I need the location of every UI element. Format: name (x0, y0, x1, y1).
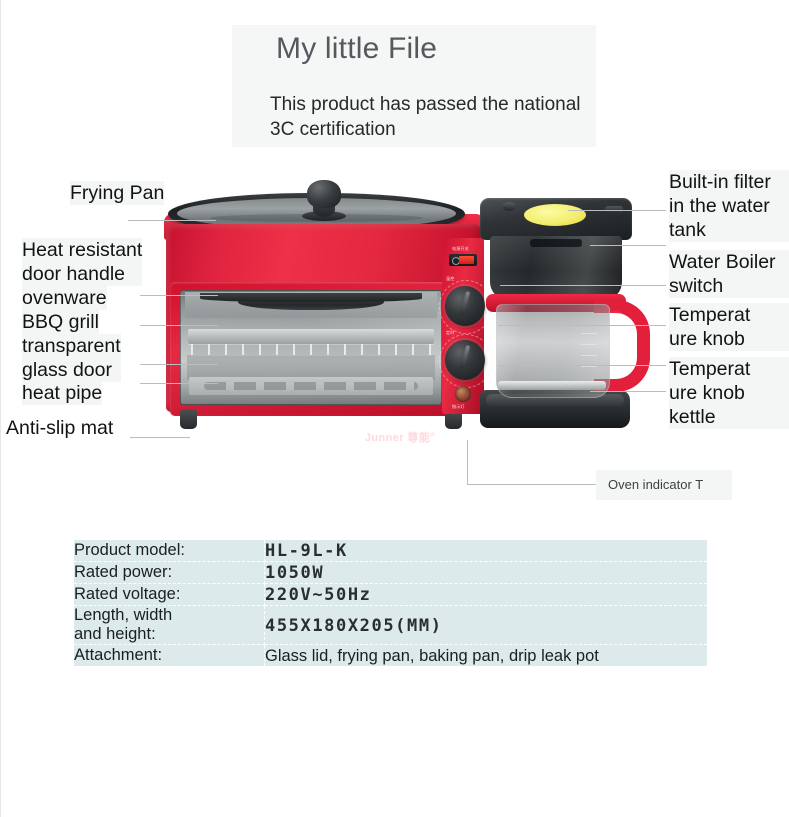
callout-oven-indicator: Oven indicator T (596, 470, 732, 500)
leader-anti-slip-mat (130, 437, 190, 438)
water-tank-lid-button[interactable] (502, 202, 516, 211)
callout-heat-pipe: heat pipe (22, 381, 102, 405)
spec-value: 220V~50Hz (265, 584, 708, 606)
timer-knob[interactable] (445, 340, 485, 380)
indicator-lamp-label: 指示灯 (452, 404, 465, 410)
brand-registered-mark: ® (430, 432, 435, 438)
page-title: My little File (276, 29, 606, 69)
spec-key: Length, width and height: (74, 606, 265, 645)
water-tank-sticker (524, 204, 586, 226)
callout-temperature-knob-kettle: Temperat ure knob kettle (669, 357, 789, 429)
temperature-knob[interactable] (445, 286, 485, 326)
leader-transparent-glass-door (140, 364, 218, 365)
spec-value: HL-9L-K (265, 540, 708, 562)
table-row: Rated voltage: 220V~50Hz (74, 584, 707, 606)
temperature-knob-label: 温控 (446, 276, 454, 282)
spec-table-body: Product model: HL-9L-K Rated power: 1050… (74, 540, 707, 666)
table-row: Attachment: Glass lid, frying pan, bakin… (74, 645, 707, 667)
spec-key: Attachment: (74, 645, 265, 667)
spec-value-text: HL-9L-K (265, 541, 348, 561)
specifications-table: Product model: HL-9L-K Rated power: 1050… (74, 540, 707, 666)
leader-oven-indicator-vertical (467, 440, 468, 484)
page-left-border (0, 0, 1, 817)
leader-water-boiler-switch (500, 285, 666, 286)
spec-key: Rated voltage: (74, 584, 265, 606)
callout-water-boiler-switch: Water Boiler switch (669, 250, 789, 298)
callout-frying-pan: Frying Pan (70, 181, 164, 205)
leader-bbq-grill (140, 325, 218, 326)
built-in-filter-slot (530, 239, 583, 247)
leader-oven-indicator-horizontal (467, 484, 598, 485)
leader-temperature-knob (498, 325, 666, 326)
callout-ovenware: ovenware (22, 286, 107, 310)
spec-value-text: 1050W (265, 563, 324, 583)
callout-bbq-grill: BBQ grill (22, 310, 99, 334)
power-switch-label: 电源开关 (452, 246, 469, 252)
baking-tray (188, 329, 434, 344)
callout-built-in-filter: Built-in filter in the water tank (669, 170, 789, 242)
spec-value: 1050W (265, 562, 708, 584)
certification-subtitle: This product has passed the national 3C … (270, 92, 600, 142)
timer-knob-label: 定时 (446, 330, 454, 336)
product-photo: Junner 尊能® 电源开关 温控 定时 指示灯 (150, 178, 650, 453)
water-boiler-switch[interactable] (449, 254, 477, 266)
brand-logo: Junner 尊能® (150, 429, 650, 445)
leader-built-in-filter (568, 210, 666, 211)
anti-slip-foot-left (180, 409, 197, 429)
spec-value-text: Glass lid, frying pan, baking pan, drip … (265, 647, 599, 665)
spec-key: Product model: (74, 540, 265, 562)
oven-indicator-lamp (455, 386, 471, 402)
callout-transparent-glass-door: transparent glass door (22, 334, 121, 382)
oven-door-handle (238, 293, 384, 310)
brand-text: Junner 尊能 (365, 432, 430, 444)
spec-value-text: 220V~50Hz (265, 585, 372, 605)
callout-heat-resistant-door-handle: Heat resistant door handle (22, 238, 142, 286)
oven-door-glass (180, 290, 442, 405)
leader-water-tank-top (590, 245, 666, 246)
lid-knob (307, 180, 341, 208)
table-row: Rated power: 1050W (74, 562, 707, 584)
spec-key: Rated power: (74, 562, 265, 584)
oven-bottom-panel (189, 377, 433, 395)
spec-value-text: 455X180X205(MM) (265, 616, 443, 636)
leader-heat-pipe (140, 383, 218, 384)
infographic-page: My little File This product has passed t… (0, 0, 789, 817)
carafe-metal-ring (498, 381, 606, 390)
leader-kettle-base (590, 391, 666, 392)
spec-value: Glass lid, frying pan, baking pan, drip … (265, 645, 708, 667)
leader-ovenware (140, 295, 218, 296)
spec-value: 455X180X205(MM) (265, 606, 708, 645)
carafe-level-marks (581, 333, 597, 373)
table-row: Length, width and height: 455X180X205(MM… (74, 606, 707, 645)
switch-on-indicator (459, 256, 474, 264)
callout-anti-slip-mat: Anti-slip mat (6, 416, 113, 440)
leader-frying-pan (128, 220, 216, 221)
callout-temperature-knob: Temperat ure knob (669, 303, 789, 351)
table-row: Product model: HL-9L-K (74, 540, 707, 562)
leader-temperature-knob-kettle (498, 365, 666, 366)
